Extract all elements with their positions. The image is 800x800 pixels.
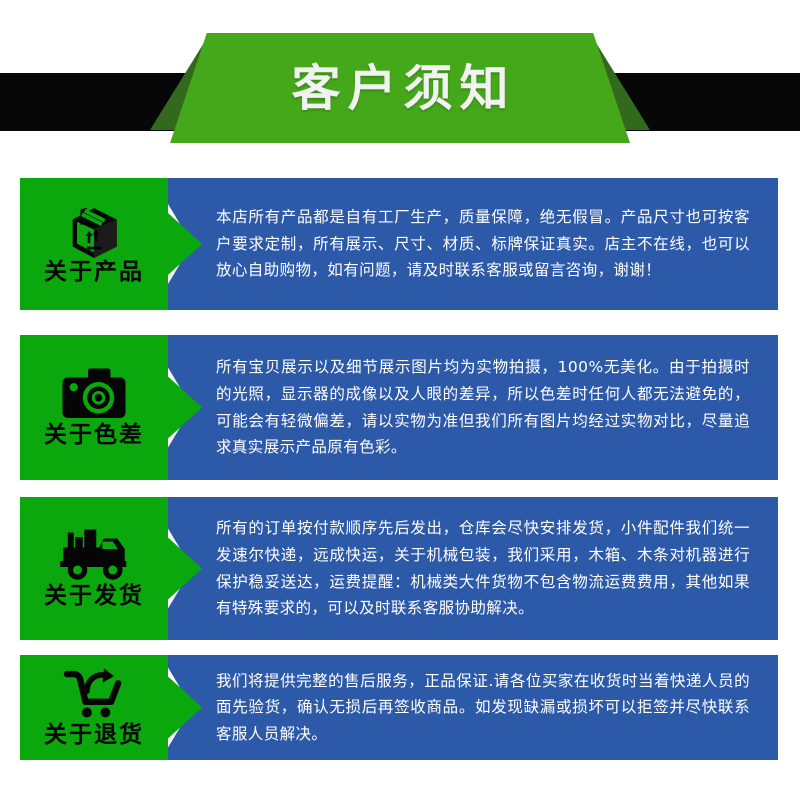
notice-panel-shipping: 所有的订单按付款顺序先后发出，仓库会尽快安排发货，小件配件我们统一发速尔快递，远… <box>168 497 778 640</box>
notice-text: 所有宝贝展示以及细节展示图片均为实物拍摄，100%无美化。由于拍摄时的光照，显示… <box>168 354 778 461</box>
notice-text: 本店所有产品都是自有工厂生产，质量保障，绝无假冒。产品尺寸也可按客户要求定制，所… <box>168 204 778 284</box>
delivery-truck-icon <box>51 528 137 582</box>
shipping-box-icon <box>51 204 137 258</box>
notice-panel-product: 本店所有产品都是自有工厂生产，质量保障，绝无假冒。产品尺寸也可按客户要求定制，所… <box>168 178 778 310</box>
notice-row-shipping: 关于发货 所有的订单按付款顺序先后发出，仓库会尽快安排发货，小件配件我们统一发速… <box>0 497 800 640</box>
return-cart-icon <box>51 667 137 721</box>
camera-icon <box>51 367 137 421</box>
icon-card-return: 关于退货 <box>20 655 168 760</box>
icon-card-label: 关于退货 <box>44 723 144 747</box>
page-header: 客户须知 <box>0 0 800 160</box>
icon-card-color: 关于色差 <box>20 335 168 480</box>
notice-row-product: 关于产品 本店所有产品都是自有工厂生产，质量保障，绝无假冒。产品尺寸也可按客户要… <box>0 178 800 310</box>
header-banner: 客户须知 <box>170 33 630 143</box>
customer-notice-page: 客户须知 关于产品 本店所有产品 <box>0 0 800 800</box>
icon-card-label: 关于发货 <box>44 584 144 608</box>
notice-text: 我们将提供完整的售后服务，正品保证.请各位买家在收货时当着快递人员的面先验货，确… <box>168 668 778 748</box>
icon-card-label: 关于色差 <box>44 423 144 447</box>
notice-text: 所有的订单按付款顺序先后发出，仓库会尽快安排发货，小件配件我们统一发速尔快递，远… <box>168 515 778 622</box>
icon-card-product: 关于产品 <box>20 178 168 310</box>
notice-panel-color: 所有宝贝展示以及细节展示图片均为实物拍摄，100%无美化。由于拍摄时的光照，显示… <box>168 335 778 480</box>
notice-row-return: 关于退货 我们将提供完整的售后服务，正品保证.请各位买家在收货时当着快递人员的面… <box>0 655 800 760</box>
icon-card-label: 关于产品 <box>44 260 144 284</box>
page-title: 客户须知 <box>284 64 515 113</box>
notice-row-color: 关于色差 所有宝贝展示以及细节展示图片均为实物拍摄，100%无美化。由于拍摄时的… <box>0 335 800 480</box>
notice-panel-return: 我们将提供完整的售后服务，正品保证.请各位买家在收货时当着快递人员的面先验货，确… <box>168 655 778 760</box>
icon-card-shipping: 关于发货 <box>20 497 168 640</box>
